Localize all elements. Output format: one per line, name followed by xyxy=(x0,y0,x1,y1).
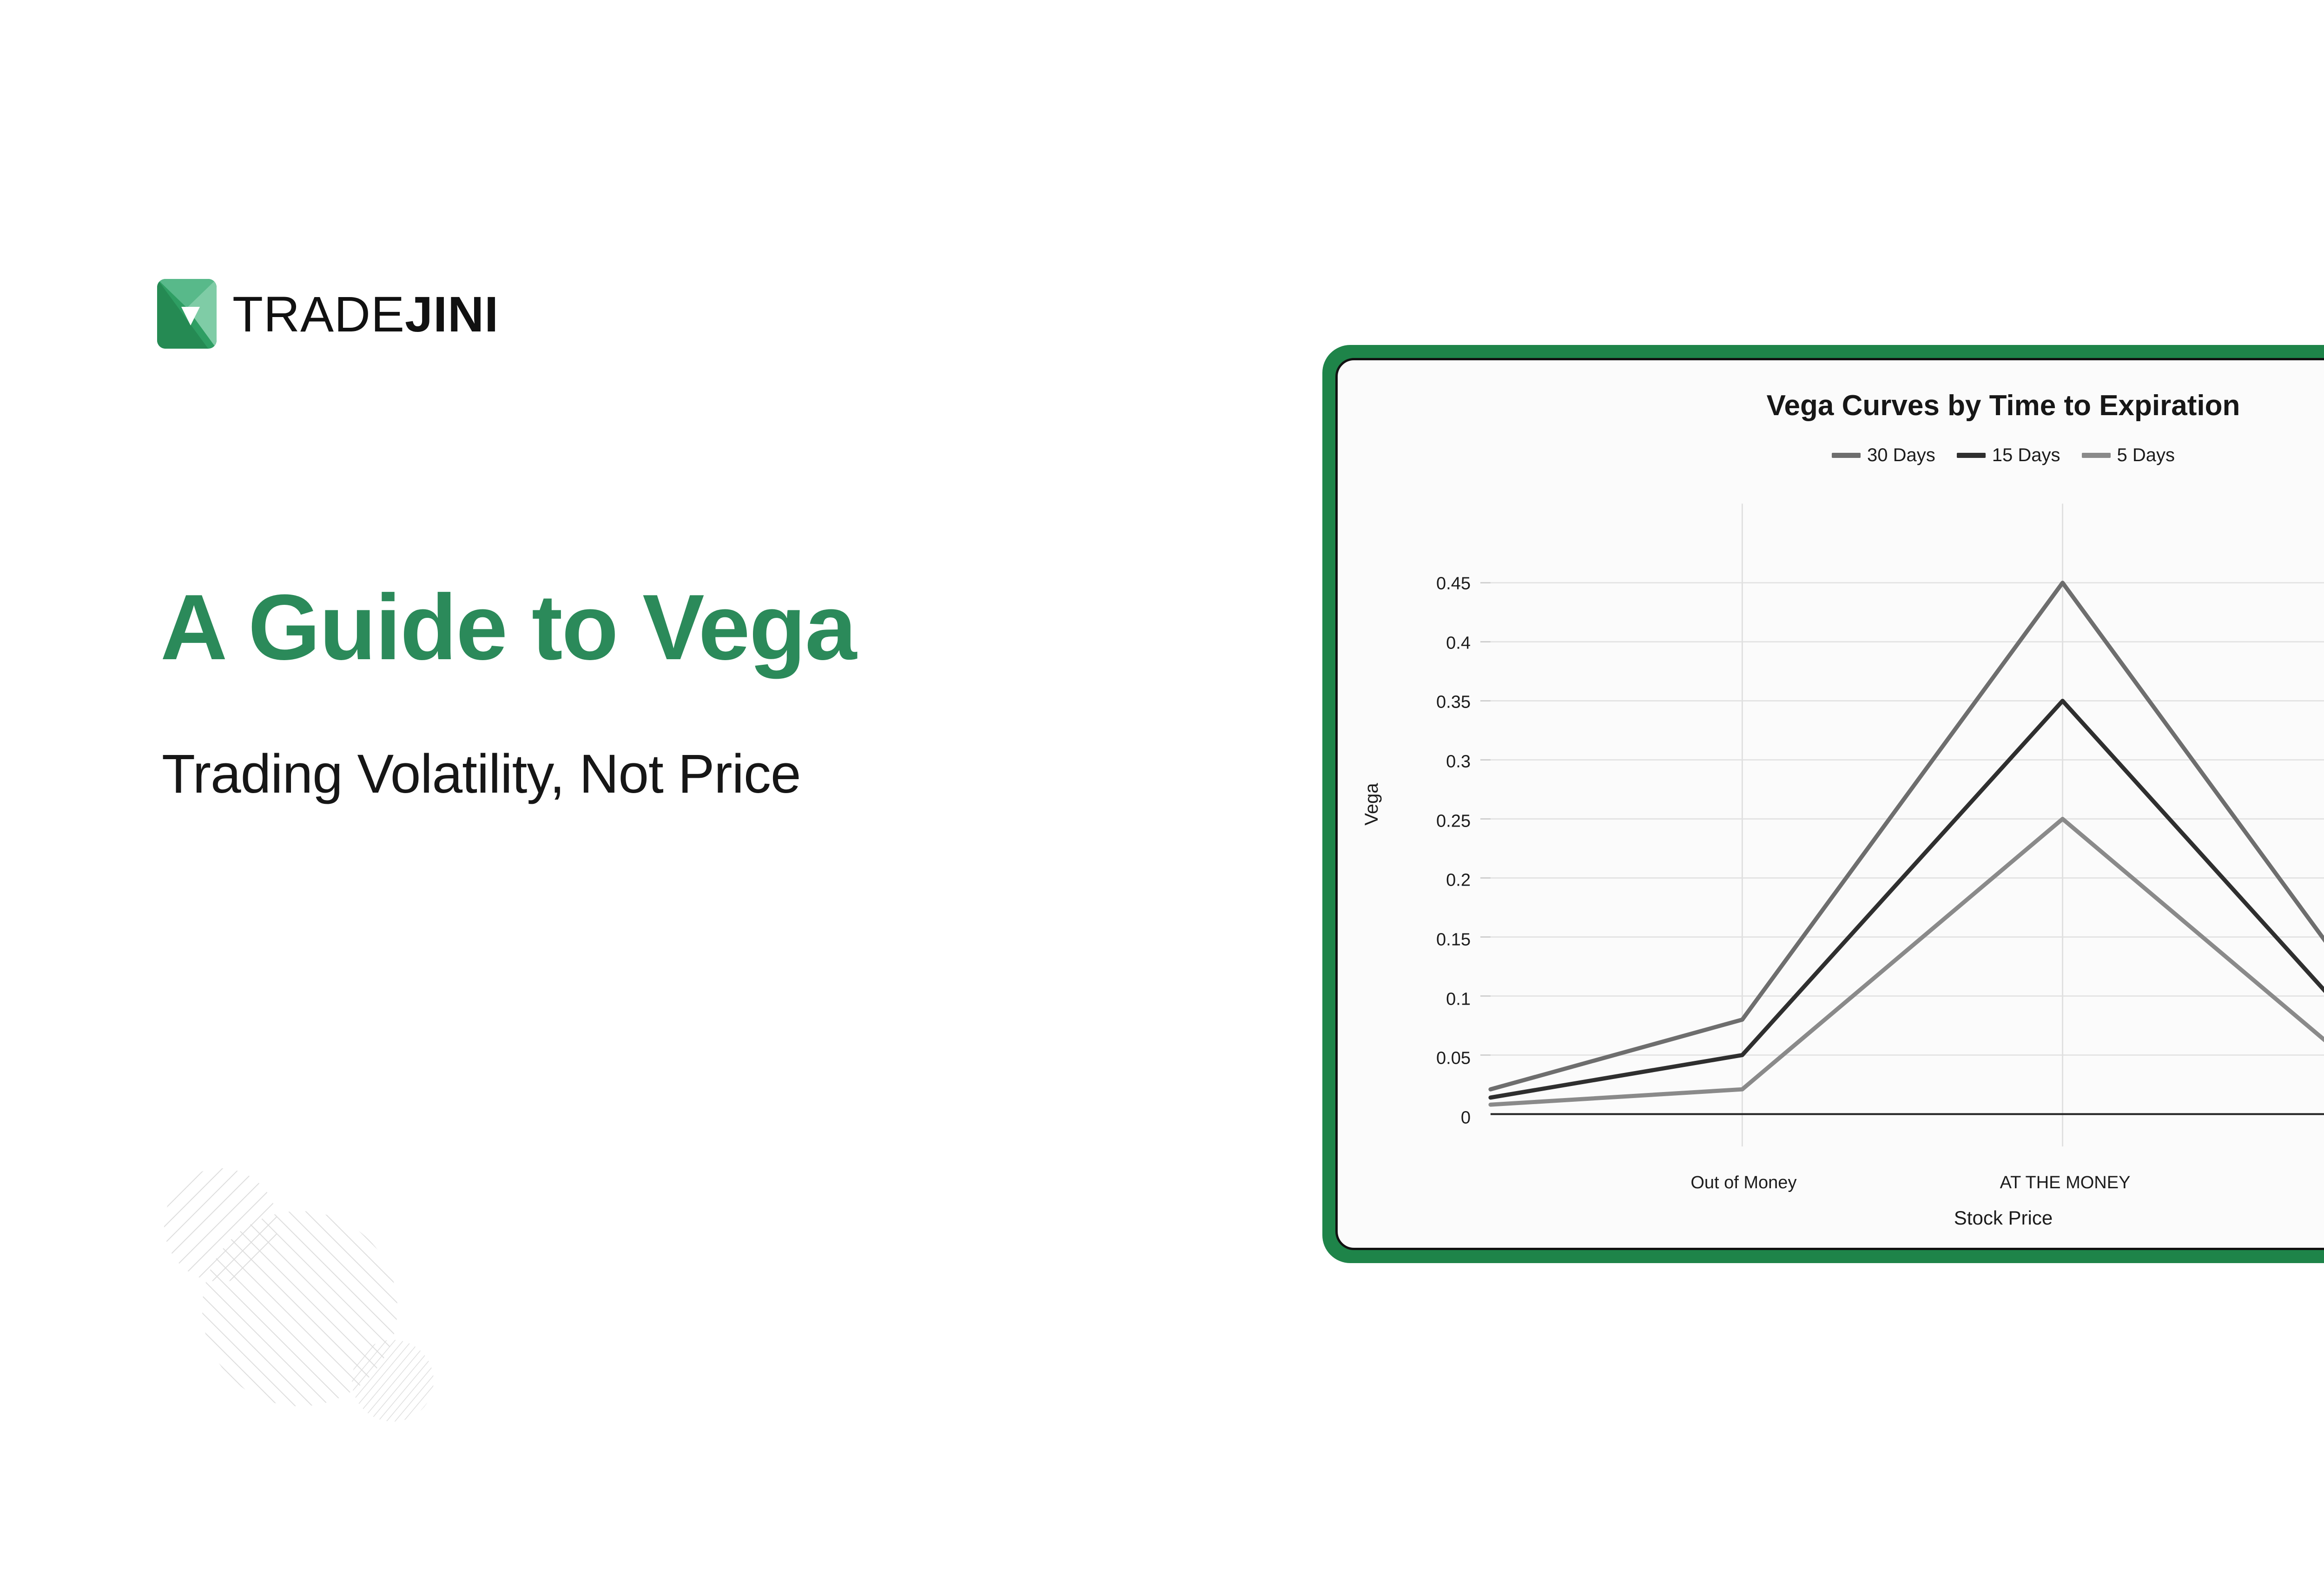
decorative-stripes-bottom-left xyxy=(139,1148,456,1474)
y-tick-label: 0.35 xyxy=(1436,693,1471,713)
y-tick-label: 0.2 xyxy=(1446,871,1471,891)
y-tick-label: 0.45 xyxy=(1436,574,1471,594)
x-tick-label: AT THE MONEY xyxy=(2000,1173,2131,1193)
x-tick-label: Out of Money xyxy=(1690,1173,1796,1193)
y-tick-label: 0.3 xyxy=(1446,752,1471,772)
poster-canvas: TRADEJINI A Guide to Vega Trading Volati… xyxy=(0,0,2324,1569)
y-tick-label: 0.4 xyxy=(1446,633,1471,653)
logo-mark-svg xyxy=(157,279,217,349)
y-tick-label: 0.05 xyxy=(1436,1049,1471,1069)
tradejini-logo-mark xyxy=(157,279,217,349)
brand-wordmark: TRADEJINI xyxy=(232,285,499,343)
page-subtitle: Trading Volatility, Not Price xyxy=(162,741,800,808)
y-tick-label: 0.25 xyxy=(1436,811,1471,831)
y-tick-label: 0.15 xyxy=(1436,930,1471,950)
brand-name-bold: JINI xyxy=(405,286,499,342)
chart-card: Vega Curves by Time to Expiration 30 Day… xyxy=(1335,358,2324,1250)
brand-name-light: TRADE xyxy=(232,286,405,342)
series-line-2 xyxy=(1491,819,2324,1106)
series-line-0 xyxy=(1491,583,2324,1090)
y-tick-label: 0 xyxy=(1461,1108,1471,1128)
plot-area: Vega Stock Price 00.050.10.150.20.250.30… xyxy=(1338,360,2324,1248)
chart-frame: Vega Curves by Time to Expiration 30 Day… xyxy=(1322,345,2324,1263)
page-title: A Guide to Vega xyxy=(160,579,856,676)
y-tick-label: 0.1 xyxy=(1446,989,1471,1009)
plot-svg xyxy=(1338,360,2324,1248)
brand-logo: TRADEJINI xyxy=(157,279,499,349)
